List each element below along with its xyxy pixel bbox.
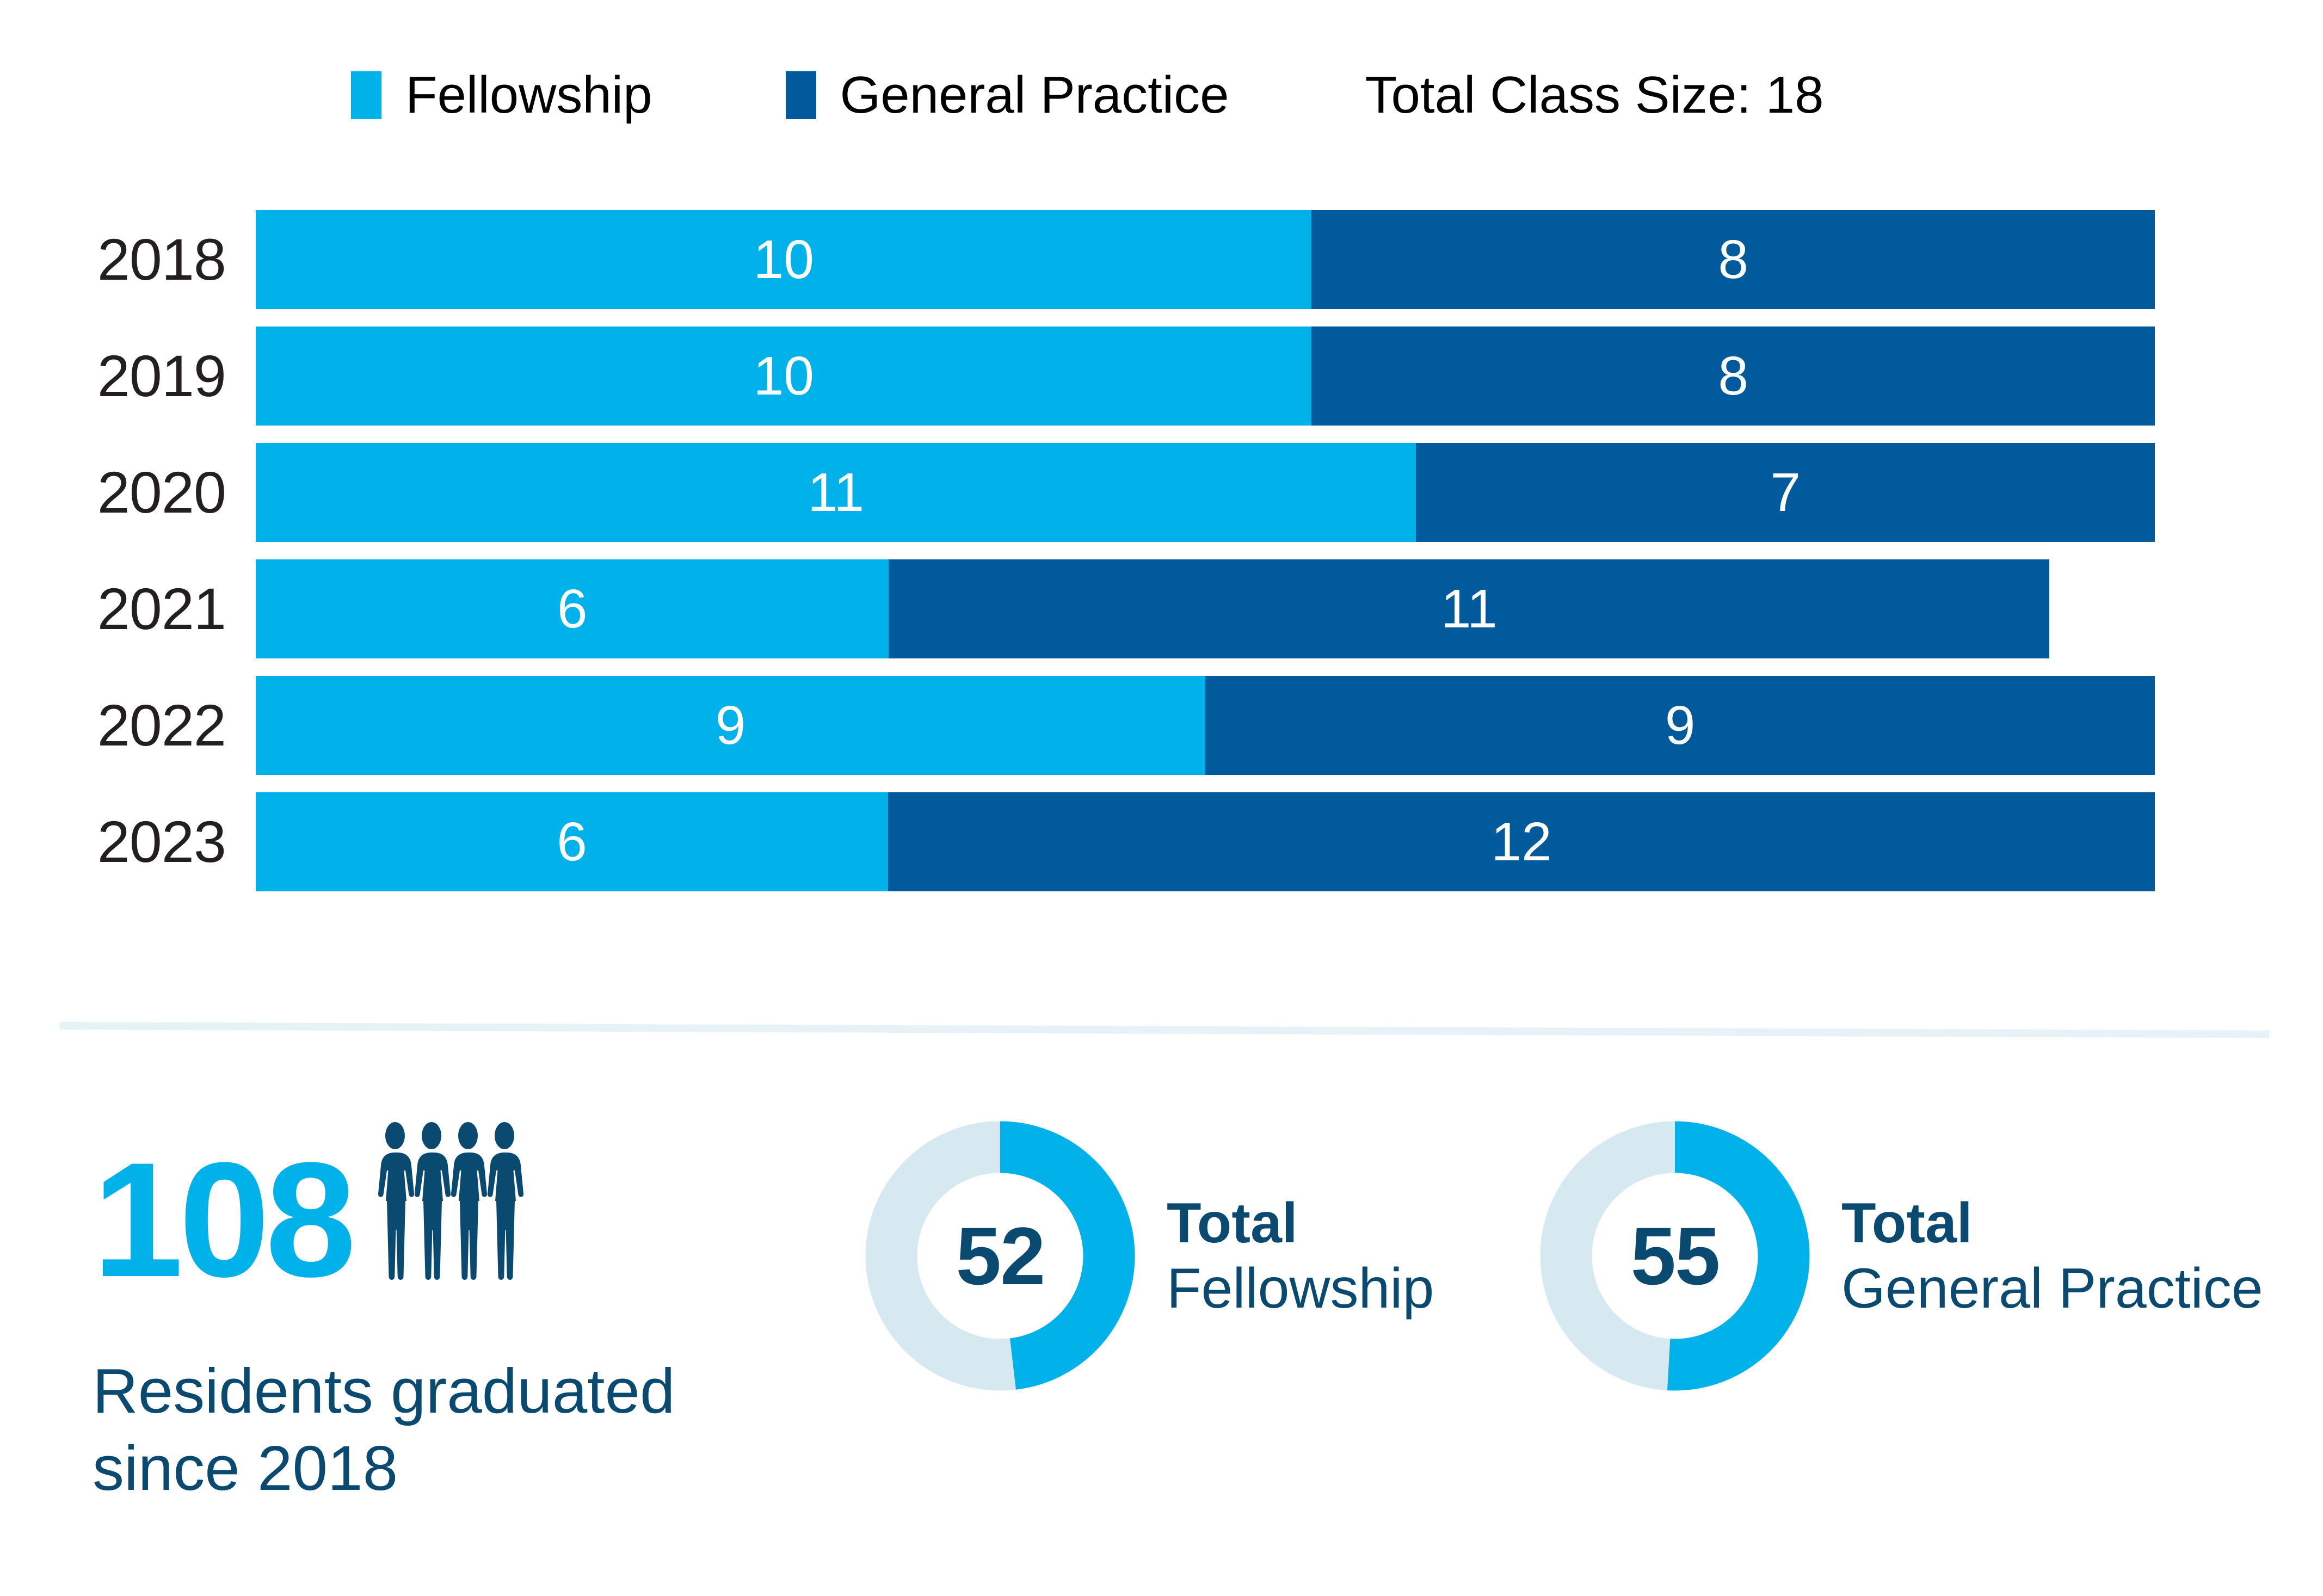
donut-value-general-practice: 55 xyxy=(1539,1120,1811,1392)
bar-value-fellowship: 10 xyxy=(754,349,814,403)
legend-swatch-fellowship-icon xyxy=(351,71,381,119)
bar-segment-fellowship: 11 xyxy=(256,443,1416,542)
bar-segment-general-practice: 9 xyxy=(1205,676,2155,775)
bar-track: 11 7 xyxy=(256,443,2155,542)
table-row: 2019 10 8 xyxy=(0,326,2323,426)
bar-segment-general-practice: 7 xyxy=(1416,443,2155,542)
table-row: 2021 6 11 xyxy=(0,559,2323,658)
bar-segment-fellowship: 6 xyxy=(256,559,889,658)
donut-total-fellowship: 52 Total Fellowship xyxy=(864,1120,1434,1392)
bar-year-label: 2019 xyxy=(0,347,256,405)
bar-segment-fellowship: 9 xyxy=(256,676,1205,775)
donut-chart-general-practice: 55 xyxy=(1539,1120,1811,1392)
summary-panel: 108 xyxy=(0,1110,2323,1578)
chart-legend: Fellowship General Practice Total Class … xyxy=(0,60,2323,131)
bar-value-general-practice: 9 xyxy=(1665,698,1696,753)
bar-year-label: 2021 xyxy=(0,580,256,638)
bar-value-fellowship: 9 xyxy=(716,698,746,753)
graduates-caption: Residents graduated since 2018 xyxy=(93,1353,680,1507)
graduates-stat-top: 108 xyxy=(93,1110,854,1290)
bar-segment-general-practice: 12 xyxy=(888,792,2155,891)
graduates-count: 108 xyxy=(93,1149,352,1290)
total-class-size-label: Total Class Size: 18 xyxy=(1365,69,1824,121)
legend-swatch-general-practice-icon xyxy=(786,71,816,119)
table-row: 2023 6 12 xyxy=(0,792,2323,891)
legend-item-general-practice: General Practice xyxy=(786,69,1229,121)
bar-track: 6 12 xyxy=(256,792,2155,891)
people-group-icon xyxy=(377,1121,525,1284)
bar-segment-fellowship: 10 xyxy=(256,210,1311,309)
bar-year-label: 2022 xyxy=(0,696,256,755)
donut-label-total: Total xyxy=(1841,1193,2263,1254)
donut-label-category: General Practice xyxy=(1841,1258,2263,1319)
bar-segment-general-practice: 8 xyxy=(1311,210,2155,309)
table-row: 2020 11 7 xyxy=(0,443,2323,542)
legend-item-fellowship: Fellowship xyxy=(351,69,652,121)
legend-label-fellowship: Fellowship xyxy=(405,69,652,121)
bar-track: 6 11 xyxy=(256,559,2049,658)
bar-segment-general-practice: 8 xyxy=(1311,326,2155,426)
table-row: 2022 9 9 xyxy=(0,676,2323,775)
donut-total-general-practice: 55 Total General Practice xyxy=(1539,1120,2263,1392)
bar-segment-general-practice: 11 xyxy=(889,559,2049,658)
bar-track: 9 9 xyxy=(256,676,2155,775)
section-divider xyxy=(60,1022,2269,1038)
donut-chart-fellowship: 52 xyxy=(864,1120,1136,1392)
donut-label-category: Fellowship xyxy=(1167,1258,1434,1319)
bar-year-label: 2023 xyxy=(0,812,256,871)
bar-year-label: 2018 xyxy=(0,230,256,289)
bar-track: 10 8 xyxy=(256,326,2155,426)
bar-value-general-practice: 8 xyxy=(1718,349,1748,403)
bar-value-fellowship: 6 xyxy=(557,582,588,636)
graduates-stat-block: 108 xyxy=(93,1110,854,1507)
donut-labels-general-practice: Total General Practice xyxy=(1841,1193,2263,1320)
table-row: 2018 10 8 xyxy=(0,210,2323,309)
bar-year-label: 2020 xyxy=(0,463,256,522)
bar-track: 10 8 xyxy=(256,210,2155,309)
bar-value-general-practice: 11 xyxy=(1441,582,1498,636)
bar-segment-fellowship: 6 xyxy=(256,792,888,891)
donut-value-fellowship: 52 xyxy=(864,1120,1136,1392)
legend-label-general-practice: General Practice xyxy=(840,69,1229,121)
stacked-bar-chart: 2018 10 8 2019 10 8 2020 11 xyxy=(0,210,2323,909)
donut-labels-fellowship: Total Fellowship xyxy=(1167,1193,1434,1320)
bar-value-general-practice: 8 xyxy=(1718,232,1748,287)
bar-value-fellowship: 11 xyxy=(808,465,864,520)
person-icon-set xyxy=(377,1121,525,1284)
donut-label-total: Total xyxy=(1167,1193,1434,1254)
bar-value-fellowship: 6 xyxy=(557,815,587,869)
bar-value-general-practice: 12 xyxy=(1491,815,1551,869)
bar-segment-fellowship: 10 xyxy=(256,326,1311,426)
bar-value-general-practice: 7 xyxy=(1770,465,1801,520)
bar-value-fellowship: 10 xyxy=(754,232,814,287)
